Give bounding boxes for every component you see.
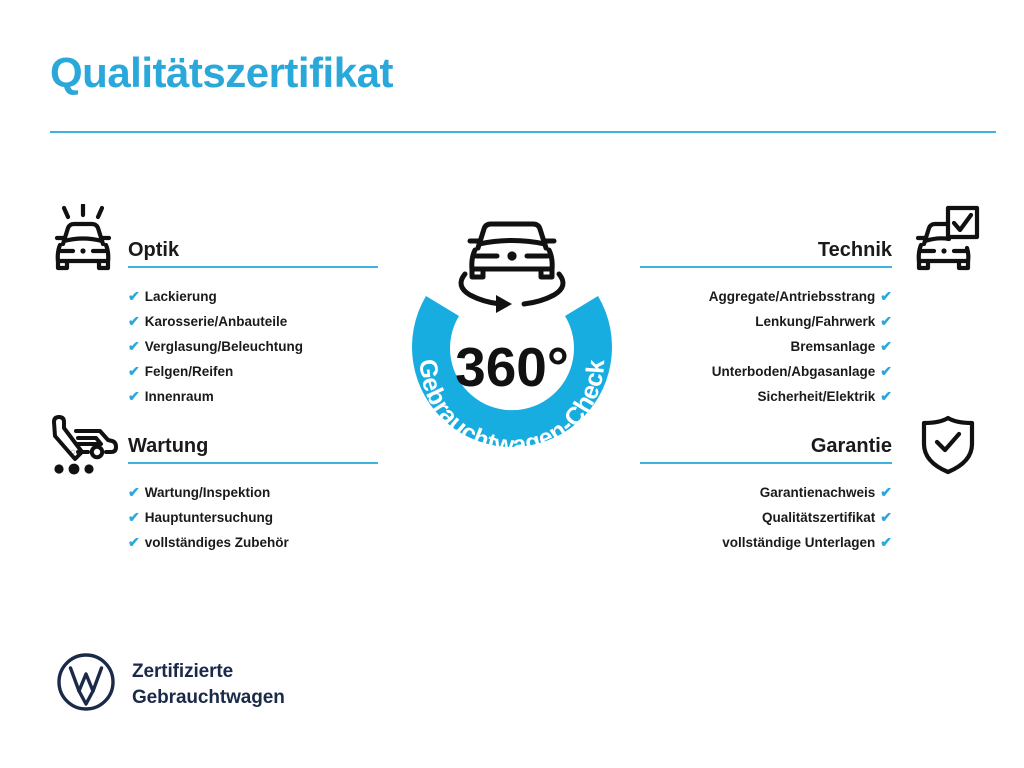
list-item-label: Karosserie/Anbauteile: [145, 314, 288, 329]
check-icon: ✔: [128, 534, 140, 550]
vw-certified-text: Zertifizierte Gebrauchtwagen: [132, 659, 285, 709]
list-item-label: Bremsanlage: [790, 339, 875, 354]
list-item-label: Garantienachweis: [760, 485, 876, 500]
check-icon: ✔: [880, 509, 892, 525]
section-technik-heading: Technik: [640, 240, 892, 265]
check-icon: ✔: [128, 313, 140, 329]
list-item-label: Wartung/Inspektion: [145, 485, 271, 500]
badge-center-label: 360°: [455, 336, 569, 398]
check-icon: ✔: [128, 484, 140, 500]
section-wartung: Wartung ✔Wartung/Inspektion ✔Hauptunters…: [128, 436, 378, 555]
badge-360-gebrauchtwagen-check: Gebrauchtwagen-Check 360°: [378, 196, 646, 496]
section-garantie-heading: Garantie: [640, 436, 892, 461]
title-divider: [50, 131, 996, 133]
vw-certified-lockup: Zertifizierte Gebrauchtwagen: [56, 652, 285, 717]
rotation-arrow-icon: [496, 295, 512, 313]
list-item-label: Unterboden/Abgasanlage: [712, 364, 876, 379]
section-optik-heading: Optik: [128, 240, 378, 265]
wrench-car-service-icon: [48, 414, 118, 481]
vw-text-line1: Zertifizierte: [132, 659, 285, 684]
list-item-label: Aggregate/Antriebsstrang: [709, 289, 876, 304]
list-item: ✔Felgen/Reifen: [128, 359, 378, 384]
list-item: ✔Verglasung/Beleuchtung: [128, 334, 378, 359]
section-wartung-heading: Wartung: [128, 436, 378, 461]
page-title: Qualitätszertifikat: [50, 52, 393, 94]
list-item-label: Lenkung/Fahrwerk: [755, 314, 875, 329]
list-item: ✔Wartung/Inspektion: [128, 480, 378, 505]
check-icon: ✔: [880, 388, 892, 404]
car-front-shine-icon: [48, 204, 118, 281]
car-rotation-360-icon: [461, 224, 563, 304]
list-item-label: Qualitätszertifikat: [762, 510, 875, 525]
list-item: Lenkung/Fahrwerk✔: [640, 309, 892, 334]
section-garantie: Garantie Garantienachweis✔ Qualitätszert…: [640, 436, 892, 555]
check-icon: ✔: [880, 484, 892, 500]
vw-text-line2: Gebrauchtwagen: [132, 685, 285, 710]
check-icon: ✔: [880, 313, 892, 329]
check-icon: ✔: [880, 363, 892, 379]
check-icon: ✔: [880, 534, 892, 550]
list-item: Qualitätszertifikat✔: [640, 505, 892, 530]
list-item: ✔Karosserie/Anbauteile: [128, 309, 378, 334]
list-item: ✔vollständiges Zubehör: [128, 530, 378, 555]
list-item-label: Felgen/Reifen: [145, 364, 234, 379]
check-icon: ✔: [128, 288, 140, 304]
section-technik-list: Aggregate/Antriebsstrang✔ Lenkung/Fahrwe…: [640, 268, 892, 409]
list-item: Aggregate/Antriebsstrang✔: [640, 284, 892, 309]
list-item: ✔Hauptuntersuchung: [128, 505, 378, 530]
list-item-label: Hauptuntersuchung: [145, 510, 273, 525]
volkswagen-logo: [56, 652, 116, 717]
section-optik-list: ✔Lackierung ✔Karosserie/Anbauteile ✔Verg…: [128, 268, 378, 409]
list-item: Sicherheit/Elektrik✔: [640, 384, 892, 409]
list-item: Garantienachweis✔: [640, 480, 892, 505]
list-item-label: Lackierung: [145, 289, 217, 304]
list-item-label: Sicherheit/Elektrik: [757, 389, 875, 404]
section-wartung-list: ✔Wartung/Inspektion ✔Hauptuntersuchung ✔…: [128, 464, 378, 555]
shield-check-icon: [920, 414, 976, 481]
list-item: Unterboden/Abgasanlage✔: [640, 359, 892, 384]
car-front-checkbox-icon: [912, 204, 980, 277]
check-icon: ✔: [128, 338, 140, 354]
list-item-label: Innenraum: [145, 389, 214, 404]
list-item: vollständige Unterlagen✔: [640, 530, 892, 555]
section-optik: Optik ✔Lackierung ✔Karosserie/Anbauteile…: [128, 240, 378, 409]
list-item-label: vollständige Unterlagen: [722, 535, 875, 550]
list-item-label: Verglasung/Beleuchtung: [145, 339, 303, 354]
section-garantie-list: Garantienachweis✔ Qualitätszertifikat✔ v…: [640, 464, 892, 555]
check-icon: ✔: [128, 388, 140, 404]
check-icon: ✔: [880, 338, 892, 354]
list-item: Bremsanlage✔: [640, 334, 892, 359]
list-item: ✔Innenraum: [128, 384, 378, 409]
check-icon: ✔: [128, 509, 140, 525]
list-item: ✔Lackierung: [128, 284, 378, 309]
check-icon: ✔: [880, 288, 892, 304]
list-item-label: vollständiges Zubehör: [145, 535, 289, 550]
section-technik: Technik Aggregate/Antriebsstrang✔ Lenkun…: [640, 240, 892, 409]
check-icon: ✔: [128, 363, 140, 379]
